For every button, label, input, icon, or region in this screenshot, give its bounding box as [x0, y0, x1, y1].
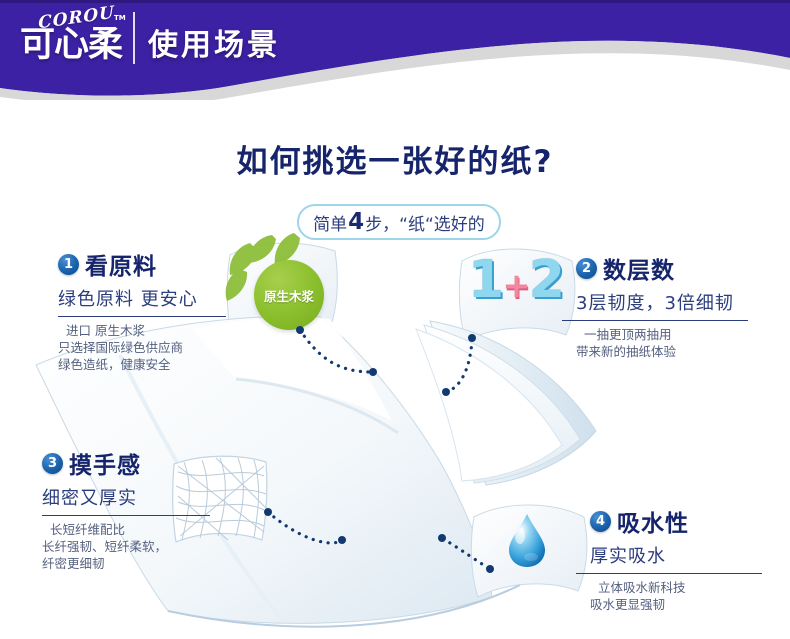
feature-3-head: 3 摸手感 — [42, 446, 210, 480]
subtitle-badge: 简单 4 步，“纸“选好的 — [297, 204, 501, 240]
feature-4-divider — [576, 573, 762, 574]
feature-4-subtitle: 厚实吸水 — [590, 542, 762, 568]
feature-2-head: 2 数层数 — [576, 251, 748, 285]
feature-2-title: 数层数 — [603, 251, 675, 285]
feature-1-desc-line-3: 绿色造纸，健康安全 — [58, 356, 226, 373]
feature-2-desc-line-1: 一抽更顶两抽用 — [576, 326, 748, 343]
subtitle-step-count: 4 — [347, 209, 365, 235]
layer-count-first: 1 — [468, 250, 502, 310]
feature-4-desc-line-1: 立体吸水新科技 — [590, 579, 762, 596]
feature-1-divider — [58, 316, 226, 317]
feature-block-4: 4 吸水性 厚实吸水 立体吸水新科技 吸水更显强韧 — [590, 504, 762, 613]
feature-1-subtitle: 绿色原料 更安心 — [58, 285, 226, 311]
virgin-pulp-badge: 原生木浆 — [232, 242, 340, 342]
subtitle-suffix: 步，“纸“选好的 — [365, 210, 485, 235]
feature-1-head: 1 看原料 — [58, 247, 226, 281]
header-divider — [133, 12, 135, 64]
page-title: 使用场景 — [148, 20, 280, 64]
feature-3-number-badge: 3 — [42, 453, 63, 474]
feature-4-number-badge: 4 — [590, 511, 611, 532]
feature-4-desc-line-2: 吸水更显强韧 — [590, 596, 762, 613]
subtitle-prefix: 简单 — [313, 210, 347, 235]
feature-1-desc-line-1: 进口 原生木浆 — [58, 322, 226, 339]
plus-icon: + — [502, 266, 529, 306]
water-drop-icon — [474, 504, 584, 608]
pulp-label: 原生木浆 — [264, 286, 314, 305]
feature-3-divider — [42, 515, 210, 516]
trademark-icon: TM — [114, 14, 126, 22]
brand-logo: COROU TM 可心柔 — [18, 8, 130, 70]
feature-1-number-badge: 1 — [58, 254, 79, 275]
feature-2-divider — [562, 320, 748, 321]
feature-2-number-badge: 2 — [576, 258, 597, 279]
feature-block-1: 1 看原料 绿色原料 更安心 进口 原生木浆 只选择国际绿色供应商 绿色造纸，健… — [58, 247, 226, 373]
feature-4-head: 4 吸水性 — [590, 504, 762, 538]
feature-3-subtitle: 细密又厚实 — [42, 484, 210, 510]
brand-chinese-text: 可心柔 — [20, 24, 122, 66]
feature-2-subtitle: 3层韧度，3倍细韧 — [576, 289, 748, 315]
feature-1-desc-line-2: 只选择国际绿色供应商 — [58, 339, 226, 356]
feature-3-description: 长短纤维配比 长纤强韧、短纤柔软， 纤密更细韧 — [42, 521, 210, 572]
feature-3-desc-line-2: 长纤强韧、短纤柔软， — [42, 538, 210, 555]
feature-2-desc-line-2: 带来新的抽纸体验 — [576, 343, 748, 360]
header-banner: COROU TM 可心柔 使用场景 — [0, 0, 790, 100]
feature-1-description: 进口 原生木浆 只选择国际绿色供应商 绿色造纸，健康安全 — [58, 322, 226, 373]
main-heading: 如何挑选一张好的纸? — [0, 136, 790, 181]
feature-block-3: 3 摸手感 细密又厚实 长短纤维配比 长纤强韧、短纤柔软， 纤密更细韧 — [42, 446, 210, 572]
feature-3-desc-line-3: 纤密更细韧 — [42, 555, 210, 572]
feature-3-title: 摸手感 — [69, 446, 141, 480]
feature-2-description: 一抽更顶两抽用 带来新的抽纸体验 — [576, 326, 748, 360]
layers-1plus2-icon: 1+2 — [462, 246, 580, 350]
feature-4-title: 吸水性 — [617, 504, 689, 538]
layer-count-second: 2 — [529, 250, 563, 310]
feature-1-title: 看原料 — [85, 247, 157, 281]
feature-3-desc-line-1: 长短纤维配比 — [42, 521, 210, 538]
feature-block-2: 2 数层数 3层韧度，3倍细韧 一抽更顶两抽用 带来新的抽纸体验 — [576, 251, 748, 360]
pulp-circle: 原生木浆 — [254, 260, 324, 330]
feature-4-description: 立体吸水新科技 吸水更显强韧 — [590, 579, 762, 613]
